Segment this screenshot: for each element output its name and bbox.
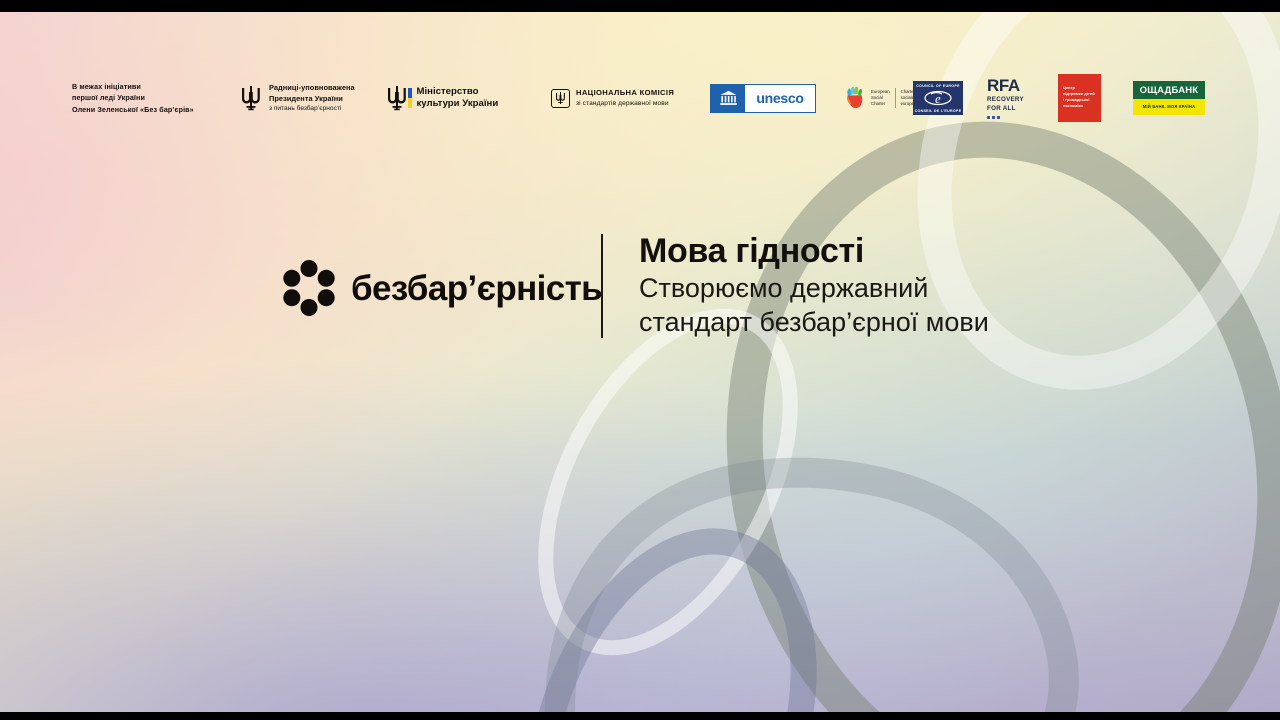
bezbariernist-wordmark: безбар’єрність xyxy=(351,271,602,306)
bezbariernist-logo: безбар’єрність xyxy=(281,260,602,316)
presentation-slide: В межах ініціативи першої леді України О… xyxy=(0,0,1280,720)
slide-canvas: В межах ініціативи першої леді України О… xyxy=(0,12,1280,712)
letterbox-bottom-bar xyxy=(0,712,1280,720)
six-dot-flower-icon xyxy=(281,260,337,316)
letterbox-top-bar xyxy=(0,0,1280,12)
page-title: Мова гідності xyxy=(639,232,989,270)
page-subtitle: Створюємо державний стандарт безбар’єрно… xyxy=(639,272,989,339)
hero-text: Мова гідності Створюємо державний станда… xyxy=(639,232,989,339)
hero-divider xyxy=(601,234,603,338)
hero-block: безбар’єрність Мова гідності Створюємо д… xyxy=(0,12,1280,712)
